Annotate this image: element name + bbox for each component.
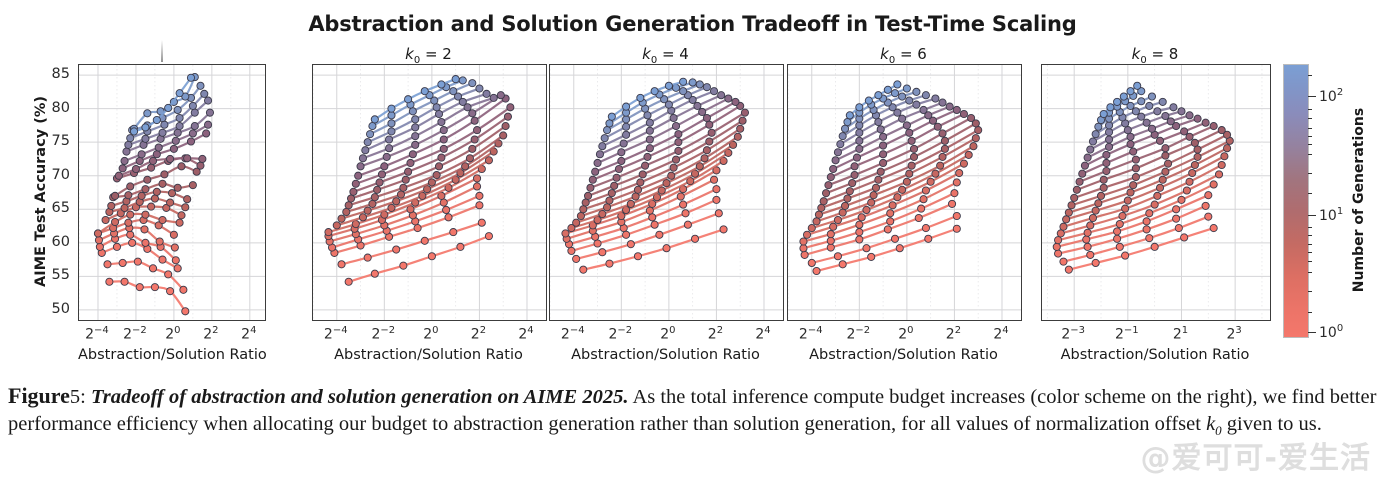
data-point (125, 141, 132, 148)
data-point (400, 262, 407, 269)
data-point (119, 165, 126, 172)
data-point (476, 85, 483, 92)
data-point (345, 202, 352, 209)
data-point (388, 105, 395, 112)
data-point (599, 210, 606, 217)
data-point (364, 139, 371, 146)
data-point (1107, 104, 1114, 111)
colorbar-major-tick (1308, 96, 1316, 97)
data-point (189, 182, 196, 189)
data-point (615, 165, 622, 172)
colorbar-gradient (1283, 64, 1309, 338)
data-point (450, 228, 457, 235)
data-point (182, 204, 189, 211)
data-point (325, 228, 332, 235)
data-point (1170, 104, 1177, 111)
data-point (115, 172, 122, 179)
data-point (478, 219, 485, 226)
data-point (1156, 184, 1163, 191)
data-point (412, 124, 419, 131)
data-point (646, 127, 653, 134)
data-point (167, 288, 174, 295)
data-point (405, 96, 412, 103)
data-point (393, 198, 400, 205)
data-point (834, 149, 841, 156)
x-tick-label: 22 (203, 325, 218, 343)
data-point (407, 159, 414, 166)
data-point (402, 176, 409, 183)
data-point (1223, 145, 1230, 152)
data-point (1076, 178, 1083, 185)
data-point (1154, 192, 1161, 199)
data-point (1154, 108, 1161, 115)
data-point (644, 153, 651, 160)
data-point (142, 211, 149, 218)
data-point (191, 122, 198, 129)
plot-area-2[interactable] (312, 64, 547, 321)
data-point (1186, 178, 1193, 185)
data-point (1057, 230, 1064, 237)
data-point (732, 98, 739, 105)
data-point (646, 145, 653, 152)
data-point (176, 122, 183, 129)
data-point (1194, 153, 1201, 160)
data-point (1089, 138, 1096, 145)
data-point (948, 200, 955, 207)
data-point (148, 164, 155, 171)
data-point (1105, 143, 1112, 150)
data-point (827, 231, 834, 238)
data-point (694, 102, 701, 109)
data-point (1079, 170, 1086, 177)
data-point (106, 278, 113, 285)
data-point (502, 122, 509, 129)
y-tick-label: 85 (52, 66, 70, 82)
data-point (875, 118, 882, 125)
data-point (684, 221, 691, 228)
data-point (920, 106, 927, 113)
data-point (899, 186, 906, 193)
data-point (877, 126, 884, 133)
data-point (364, 254, 371, 261)
data-point (932, 170, 939, 177)
data-point (161, 171, 168, 178)
data-point (1132, 173, 1139, 180)
data-point (182, 308, 189, 315)
data-point (1162, 168, 1169, 175)
data-point (573, 255, 580, 262)
data-point (102, 216, 109, 223)
data-point (903, 178, 910, 185)
colorbar-minor-tick (1308, 75, 1312, 76)
data-point (178, 163, 185, 170)
data-point (946, 103, 953, 110)
data-point (153, 188, 160, 195)
data-point (953, 212, 960, 219)
data-point (1089, 214, 1096, 221)
data-point (841, 202, 848, 209)
data-point (111, 218, 118, 225)
data-point (718, 92, 725, 99)
data-point (1143, 218, 1150, 225)
data-point (934, 123, 941, 130)
data-point (832, 157, 839, 164)
data-point (680, 201, 687, 208)
data-point (903, 122, 910, 129)
data-point (668, 172, 675, 179)
data-point (813, 267, 820, 274)
data-point (1151, 243, 1158, 250)
data-point (908, 137, 915, 144)
data-point (428, 253, 435, 260)
data-point (206, 109, 213, 116)
subplot-title-3: k0 = 4 (549, 45, 782, 63)
data-point (1122, 252, 1129, 259)
subplot-grid: 2−42−2202224Abstraction/Solution Ratio50… (0, 45, 1385, 375)
data-point (922, 224, 929, 231)
data-point (941, 145, 948, 152)
data-point (127, 211, 134, 218)
data-point (1097, 192, 1104, 199)
data-point (637, 179, 644, 186)
plot-canvas-3 (550, 65, 783, 320)
data-point (127, 183, 134, 190)
colorbar-minor-tick (1308, 193, 1312, 194)
data-point (440, 145, 447, 152)
data-point (1156, 137, 1163, 144)
y-tick-label: 75 (52, 133, 70, 149)
data-point (622, 131, 629, 138)
data-point (469, 145, 476, 152)
data-point (174, 129, 181, 136)
data-point (801, 251, 808, 258)
data-point (863, 245, 870, 252)
data-point (153, 151, 160, 158)
data-point (142, 186, 149, 193)
data-point (592, 168, 599, 175)
data-point (868, 199, 875, 206)
data-point (1084, 154, 1091, 161)
data-point (433, 171, 440, 178)
plot-area-5[interactable] (1041, 64, 1271, 321)
data-point (471, 136, 478, 143)
data-point (887, 210, 894, 217)
data-point (896, 245, 903, 252)
data-point (672, 122, 679, 129)
data-point (201, 90, 208, 97)
data-point (473, 183, 480, 190)
data-point (1194, 115, 1201, 122)
data-point (407, 206, 414, 213)
data-point (134, 258, 141, 265)
data-point (706, 121, 713, 128)
data-point (1183, 187, 1190, 194)
data-point (189, 102, 196, 109)
data-point (820, 198, 827, 205)
data-point (381, 163, 388, 170)
data-point (1138, 98, 1145, 105)
data-point (483, 90, 490, 97)
data-point (915, 214, 922, 221)
data-point (734, 133, 741, 140)
data-point (142, 135, 149, 142)
x-axis-label: Abstraction/Solution Ratio (78, 347, 264, 363)
data-point (856, 122, 863, 129)
data-point (603, 204, 610, 211)
data-point (136, 157, 143, 164)
x-tick-label: 24 (755, 325, 770, 343)
data-point (127, 231, 134, 238)
colorbar-minor-tick (1308, 128, 1312, 129)
data-point (1105, 136, 1112, 143)
data-point (352, 180, 359, 187)
data-point (713, 196, 720, 203)
data-point (1162, 112, 1169, 119)
data-point (627, 200, 634, 207)
data-point (507, 104, 514, 111)
data-point (856, 129, 863, 136)
data-point (1087, 146, 1094, 153)
data-point (438, 81, 445, 88)
data-point (827, 237, 834, 244)
data-point (433, 104, 440, 111)
data-point (191, 109, 198, 116)
data-point (1120, 93, 1127, 100)
data-point (371, 116, 378, 123)
data-point (94, 230, 101, 237)
data-point (471, 117, 478, 124)
data-point (927, 178, 934, 185)
caption-figure-number: 5: (70, 386, 86, 408)
data-point (176, 219, 183, 226)
data-point (639, 171, 646, 178)
data-point (884, 226, 891, 233)
data-point (868, 253, 875, 260)
data-point (739, 117, 746, 124)
data-point (123, 148, 130, 155)
data-point (412, 141, 419, 148)
colorbar-minor-tick (1308, 154, 1312, 155)
data-point (1148, 93, 1155, 100)
data-point (906, 129, 913, 136)
data-point (405, 168, 412, 175)
data-point (1132, 165, 1139, 172)
plot-area-4[interactable] (787, 64, 1022, 321)
data-point (476, 202, 483, 209)
data-point (1100, 176, 1107, 183)
data-point (469, 110, 476, 117)
data-point (939, 99, 946, 106)
y-tick-label: 60 (52, 234, 70, 250)
data-point (1151, 201, 1158, 208)
data-point (908, 162, 915, 169)
data-point (599, 143, 606, 150)
caption-figure-label: Figure (8, 383, 70, 408)
data-point (1210, 224, 1217, 231)
data-point (1218, 126, 1225, 133)
data-point (720, 226, 727, 233)
data-point (834, 253, 841, 260)
data-point (199, 155, 206, 162)
data-point (913, 88, 920, 95)
data-point (95, 237, 102, 244)
data-point (443, 206, 450, 213)
data-point (141, 226, 148, 233)
subplot-4: k0 = 62−42−2202224Abstraction/Solution R… (787, 45, 1020, 375)
data-point (594, 240, 601, 247)
data-point (132, 165, 139, 172)
data-point (1143, 119, 1150, 126)
data-point (1205, 192, 1212, 199)
data-point (156, 238, 163, 245)
data-point (584, 192, 591, 199)
x-tick-label: 20 (898, 325, 913, 343)
data-point (364, 207, 371, 214)
data-point (178, 212, 185, 219)
colorbar-minor-tick (1308, 235, 1312, 236)
data-point (844, 118, 851, 125)
data-point (691, 235, 698, 242)
data-point (856, 236, 863, 243)
x-tick-label: 22 (946, 325, 961, 343)
data-point (1173, 206, 1180, 213)
data-point (355, 172, 362, 179)
plot-area-3[interactable] (549, 64, 784, 321)
x-tick-label: 2−2 (608, 325, 632, 343)
data-point (1114, 228, 1121, 235)
data-point (608, 113, 615, 120)
data-point (352, 220, 359, 227)
data-point (485, 233, 492, 240)
data-point (176, 90, 183, 97)
data-point (485, 157, 492, 164)
caption-emphasis: Tradeoff of abstraction and solution gen… (91, 386, 628, 408)
data-point (148, 203, 155, 210)
data-point (1122, 205, 1129, 212)
figure-root: Abstraction and Solution Generation Trad… (0, 0, 1385, 483)
x-tick-label: 2−4 (561, 325, 585, 343)
data-point (937, 162, 944, 169)
data-point (1191, 139, 1198, 146)
data-point (975, 126, 982, 133)
data-point (689, 79, 696, 86)
figure-caption: Figure5: Tradeoff of abstraction and sol… (8, 381, 1380, 440)
data-point (167, 199, 174, 206)
data-point (459, 77, 466, 84)
data-point (388, 120, 395, 127)
data-point (925, 235, 932, 242)
data-point (800, 238, 807, 245)
data-point (899, 115, 906, 122)
data-point (343, 208, 350, 215)
data-point (906, 170, 913, 177)
data-point (618, 157, 625, 164)
data-point (573, 219, 580, 226)
x-tick-label: 2−1 (1115, 325, 1139, 343)
data-point (646, 136, 653, 143)
data-point (440, 199, 447, 206)
data-point (414, 224, 421, 231)
data-point (818, 204, 825, 211)
data-point (618, 149, 625, 156)
data-point (1065, 266, 1072, 273)
data-point (435, 110, 442, 117)
data-point (130, 128, 137, 135)
data-point (658, 187, 665, 194)
data-point (972, 135, 979, 142)
data-point (1127, 141, 1134, 148)
data-point (1116, 220, 1123, 227)
data-point (1084, 243, 1091, 250)
data-point (1146, 235, 1153, 242)
data-point (371, 270, 378, 277)
data-point (187, 138, 194, 145)
data-point (932, 95, 939, 102)
x-axis-label: Abstraction/Solution Ratio (549, 347, 782, 363)
data-point (906, 97, 913, 104)
colorbar-minor-tick (1308, 109, 1312, 110)
data-point (663, 245, 670, 252)
data-point (1073, 186, 1080, 193)
data-point (388, 204, 395, 211)
data-point (562, 230, 569, 237)
x-tick-label: 2−4 (799, 325, 823, 343)
data-point (184, 196, 191, 203)
data-point (438, 154, 445, 161)
x-tick-label: 22 (708, 325, 723, 343)
data-point (846, 112, 853, 119)
data-point (737, 125, 744, 132)
data-point (665, 82, 672, 89)
data-point (741, 109, 748, 116)
colorbar-major-tick (1308, 332, 1316, 333)
plot-area-1[interactable] (78, 64, 266, 321)
data-point (800, 245, 807, 252)
data-point (710, 88, 717, 95)
data-point (1063, 216, 1070, 223)
caption-k-symbol: k0 (1206, 413, 1222, 435)
data-point (903, 85, 910, 92)
data-point (872, 184, 879, 191)
data-point (899, 93, 906, 100)
data-point (174, 106, 181, 113)
data-point (159, 216, 166, 223)
data-point (138, 192, 145, 199)
data-point (149, 157, 156, 164)
data-point (1181, 234, 1188, 241)
data-point (1202, 202, 1209, 209)
data-point (844, 195, 851, 202)
colorbar: 102101100 Number of Generations (1283, 64, 1385, 336)
data-point (1092, 207, 1099, 214)
data-point (1146, 102, 1153, 109)
data-point (649, 214, 656, 221)
data-point (953, 106, 960, 113)
data-point (144, 110, 151, 117)
data-point (846, 188, 853, 195)
data-point (108, 202, 115, 209)
colorbar-minor-tick (1308, 144, 1312, 145)
data-point (338, 261, 345, 268)
data-point (894, 81, 901, 88)
data-point (165, 271, 172, 278)
data-point (646, 119, 653, 126)
data-point (127, 135, 134, 142)
data-point (462, 163, 469, 170)
data-point (1060, 223, 1067, 230)
data-point (970, 143, 977, 150)
data-point (703, 114, 710, 121)
